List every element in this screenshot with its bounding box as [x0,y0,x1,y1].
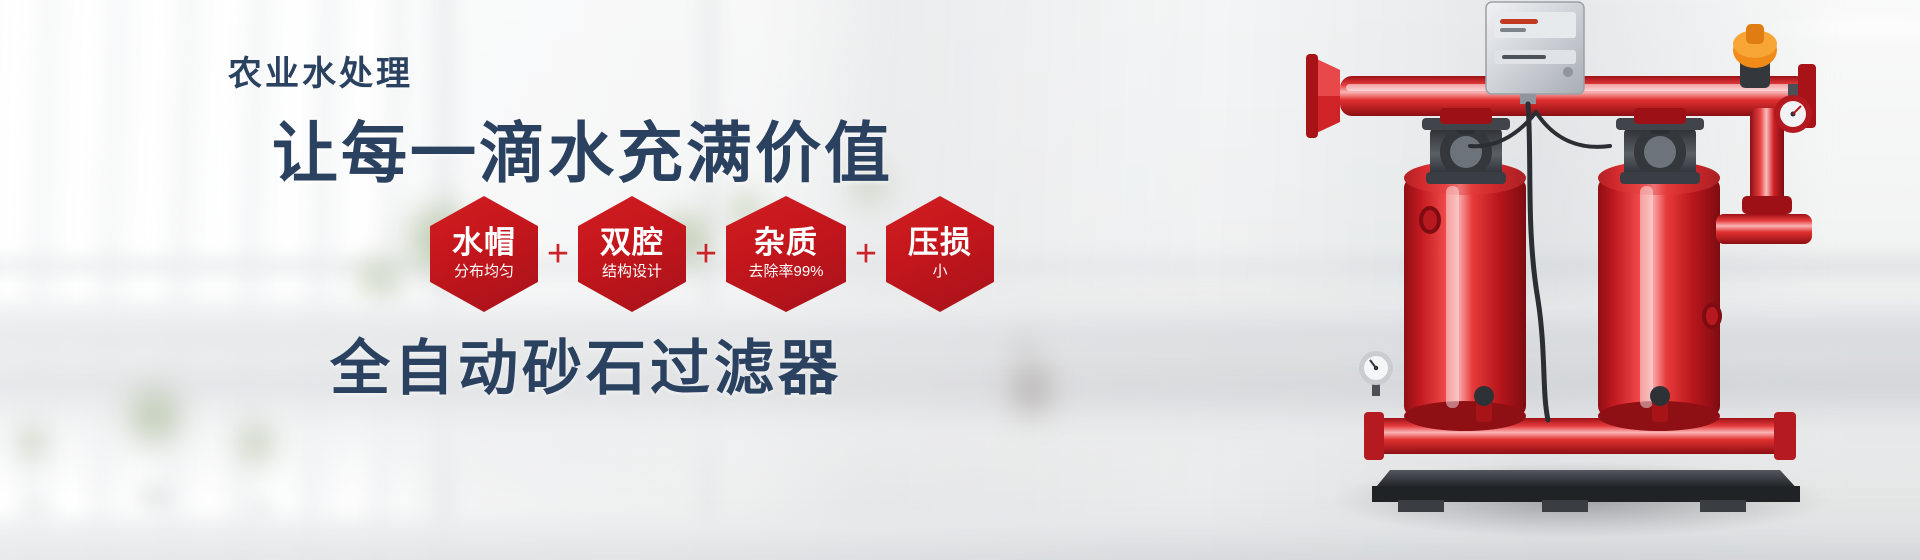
feature-badge-1: 水帽 分布均匀 [430,196,538,312]
feature-badge-3-subtitle: 去除率99% [748,264,823,281]
feature-badge-4: 压损 小 [886,196,994,312]
feature-badge-4-subtitle: 小 [932,264,947,281]
feature-badge-2-title: 双腔 [600,227,664,260]
headline-text: 让每一滴水充满价值 [272,100,893,196]
plus-separator-3: + [846,235,886,273]
sand-filter-equipment-image [1280,0,1920,560]
left-tank [1404,161,1526,431]
feature-badge-1-subtitle: 分布均匀 [454,264,514,281]
feature-badge-2-subtitle: 结构设计 [602,264,662,281]
feature-badge-4-title: 压损 [908,227,972,260]
feature-badge-row: 水帽 分布均匀 + 双腔 结构设计 + 杂质 去除率99% + 压损 小 [430,196,994,312]
promo-banner: 农业水处理 让每一滴水充满价值 全自动砂石过滤器 水帽 分布均匀 + 双腔 结构… [0,0,1920,560]
eyebrow-text: 农业水处理 [228,46,413,95]
feature-badge-2: 双腔 结构设计 [578,196,686,312]
feature-badge-1-title: 水帽 [452,227,516,260]
feature-badge-3-title: 杂质 [754,227,818,260]
plus-separator-1: + [538,235,578,273]
base-skid [1372,470,1800,512]
pressure-gauge-bottom [1359,351,1393,396]
feature-badge-3: 杂质 去除率99% [726,196,846,312]
control-box [1486,2,1584,104]
product-name: 全自动砂石过滤器 [330,320,842,407]
plus-separator-2: + [686,235,726,273]
